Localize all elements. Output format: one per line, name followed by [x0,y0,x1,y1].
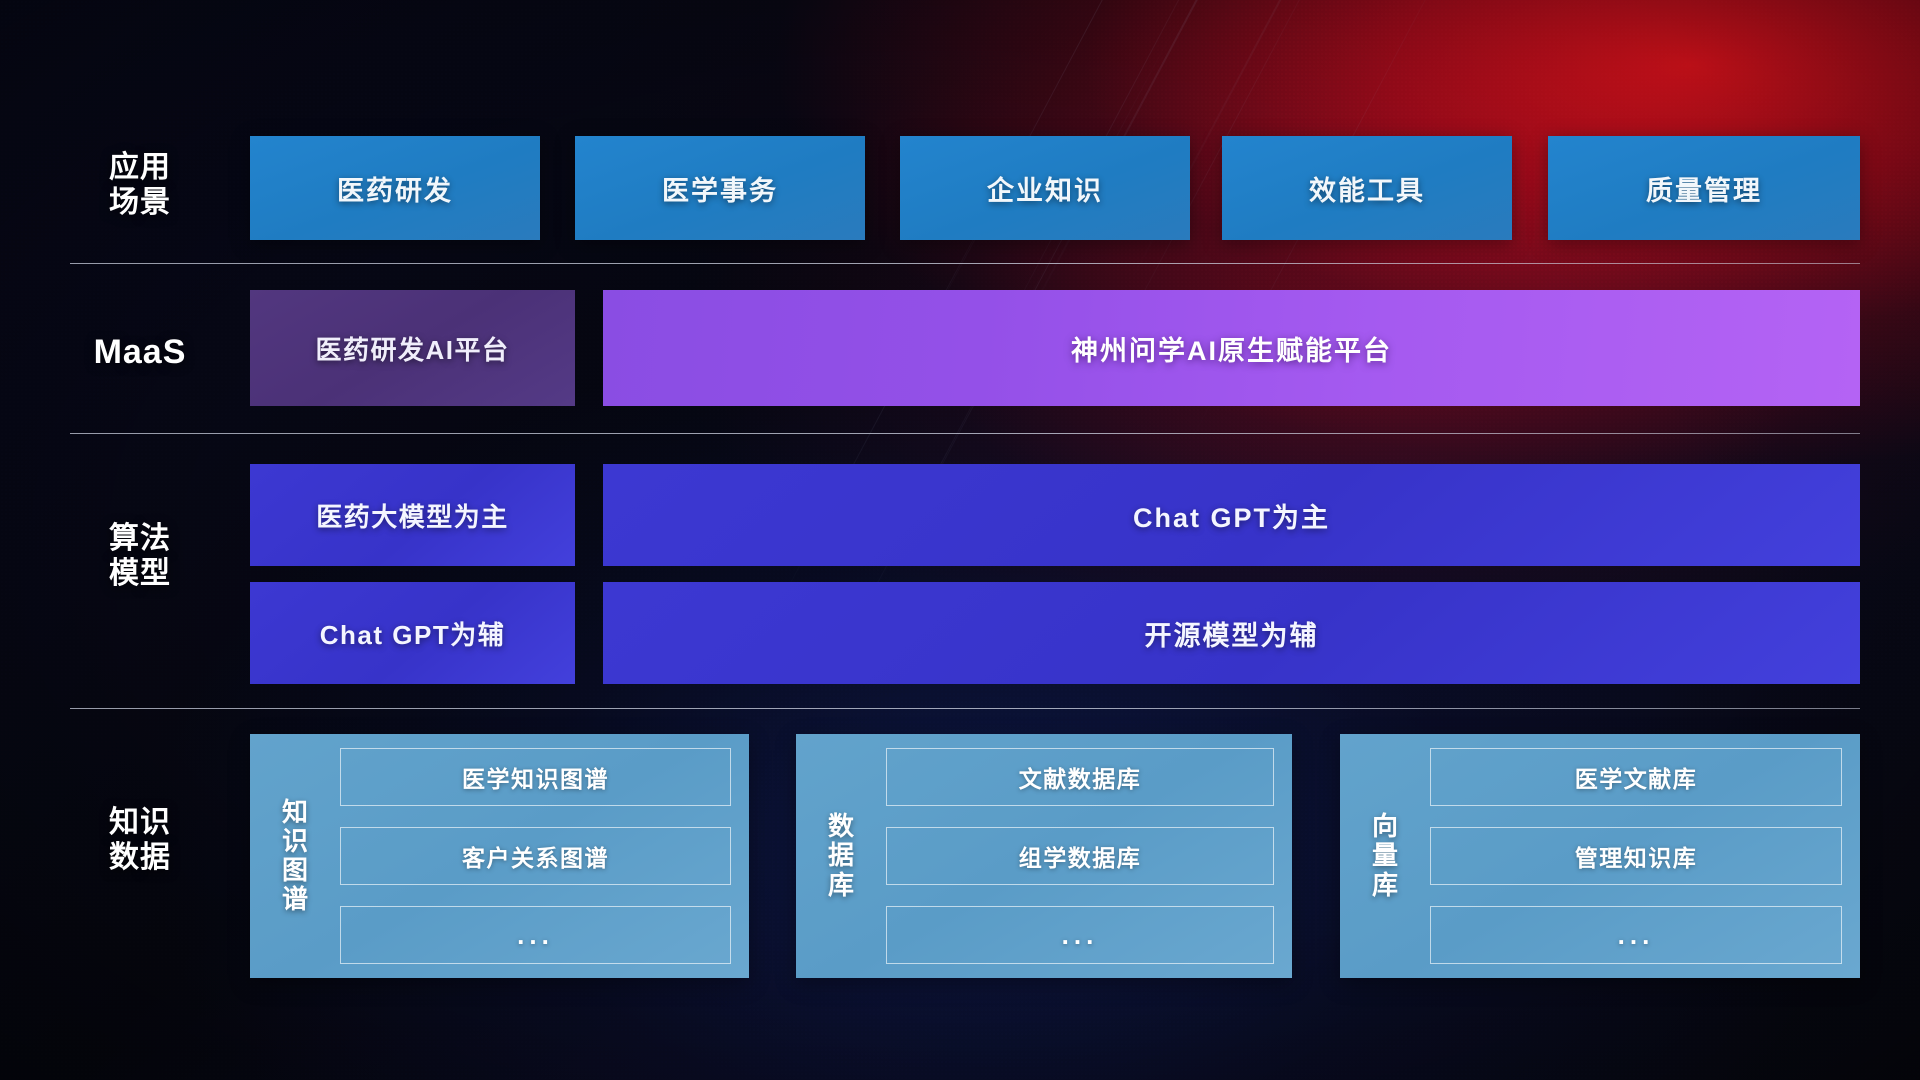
vertical-label-char: 量 [1372,841,1398,870]
knowledge-item-label: 医学文献库 [1575,760,1698,794]
app-box-medicine-rd[interactable]: 医药研发 [250,136,540,240]
app-box-label: 医学事务 [662,169,778,208]
knowledge-item-label: ... [517,920,554,951]
app-box-label: 企业知识 [987,169,1103,208]
vertical-label-char: 库 [828,871,854,900]
knowledge-panel-vertical-label: 向 量 库 [1354,748,1416,964]
knowledge-item-label: 文献数据库 [1019,760,1142,794]
maas-box-label: 医药研发AI平台 [315,330,509,367]
algo-box-opensource-model-secondary[interactable]: 开源模型为辅 [603,582,1860,684]
tier-maas: 医药研发AI平台 神州问学AI原生赋能平台 [0,290,1920,406]
knowledge-item-omics-database[interactable]: 组学数据库 [886,827,1274,885]
vertical-label-char: 库 [1372,871,1398,900]
app-box-label: 质量管理 [1646,169,1762,208]
knowledge-item-label: 组学数据库 [1019,839,1142,873]
knowledge-item-more[interactable]: ... [886,906,1274,964]
knowledge-item-customer-relation-graph[interactable]: 客户关系图谱 [340,827,731,885]
divider-after-maas [70,433,1860,434]
knowledge-panel-database[interactable]: 数 据 库 文献数据库 组学数据库 ... [796,734,1292,978]
vertical-label-char: 识 [282,827,308,856]
algo-box-label: Chat GPT为辅 [320,615,505,652]
knowledge-item-label: ... [1618,920,1655,951]
app-box-label: 效能工具 [1309,169,1425,208]
algo-box-label: 医药大模型为主 [316,497,509,534]
knowledge-panel-items: 文献数据库 组学数据库 ... [872,748,1274,964]
knowledge-item-label: ... [1062,920,1099,951]
algo-box-chatgpt-secondary[interactable]: Chat GPT为辅 [250,582,575,684]
app-box-efficiency-tools[interactable]: 效能工具 [1222,136,1512,240]
knowledge-item-more[interactable]: ... [1430,906,1842,964]
maas-box-medicine-rd-ai-platform[interactable]: 医药研发AI平台 [250,290,575,406]
tier-knowledge-data: 知 识 图 谱 医学知识图谱 客户关系图谱 ... 数 据 [0,734,1920,978]
knowledge-panel-items: 医学知识图谱 客户关系图谱 ... [326,748,731,964]
vertical-label-char: 数 [828,812,854,841]
architecture-diagram: 应用 场景 医药研发 医学事务 企业知识 效能工具 质量管理 MaaS 医药研发… [0,0,1920,1080]
app-box-quality-management[interactable]: 质量管理 [1548,136,1860,240]
knowledge-item-literature-database[interactable]: 文献数据库 [886,748,1274,806]
app-box-label: 医药研发 [337,169,453,208]
vertical-label-char: 知 [282,798,308,827]
knowledge-panel-vertical-label: 知 识 图 谱 [264,748,326,964]
knowledge-item-more[interactable]: ... [340,906,731,964]
knowledge-panel-items: 医学文献库 管理知识库 ... [1416,748,1842,964]
algo-box-label: 开源模型为辅 [1145,614,1319,653]
vertical-label-char: 据 [828,841,854,870]
knowledge-item-medical-knowledge-graph[interactable]: 医学知识图谱 [340,748,731,806]
knowledge-item-label: 管理知识库 [1575,839,1698,873]
knowledge-item-label: 医学知识图谱 [462,760,609,794]
vertical-label-char: 向 [1372,812,1398,841]
vertical-label-char: 图 [282,856,308,885]
knowledge-item-management-knowledge-store[interactable]: 管理知识库 [1430,827,1842,885]
knowledge-panel-vertical-label: 数 据 库 [810,748,872,964]
algo-box-chatgpt-primary[interactable]: Chat GPT为主 [603,464,1860,566]
app-box-medical-affairs[interactable]: 医学事务 [575,136,865,240]
knowledge-panel-vector-store[interactable]: 向 量 库 医学文献库 管理知识库 ... [1340,734,1860,978]
divider-after-algorithms [70,708,1860,709]
tier-application-scenarios: 医药研发 医学事务 企业知识 效能工具 质量管理 [0,136,1920,240]
app-box-enterprise-knowledge[interactable]: 企业知识 [900,136,1190,240]
knowledge-panel-knowledge-graph[interactable]: 知 识 图 谱 医学知识图谱 客户关系图谱 ... [250,734,749,978]
maas-box-label: 神州问学AI原生赋能平台 [1071,329,1392,368]
knowledge-item-label: 客户关系图谱 [462,839,609,873]
algo-box-medicine-large-model-primary[interactable]: 医药大模型为主 [250,464,575,566]
divider-after-applications [70,263,1860,264]
algo-box-label: Chat GPT为主 [1133,496,1330,535]
knowledge-item-medical-literature-store[interactable]: 医学文献库 [1430,748,1842,806]
maas-box-shenzhou-wenxue-platform[interactable]: 神州问学AI原生赋能平台 [603,290,1860,406]
tier-algorithm-models: 医药大模型为主 Chat GPT为主 Chat GPT为辅 开源模型为辅 [0,464,1920,686]
vertical-label-char: 谱 [282,885,308,914]
